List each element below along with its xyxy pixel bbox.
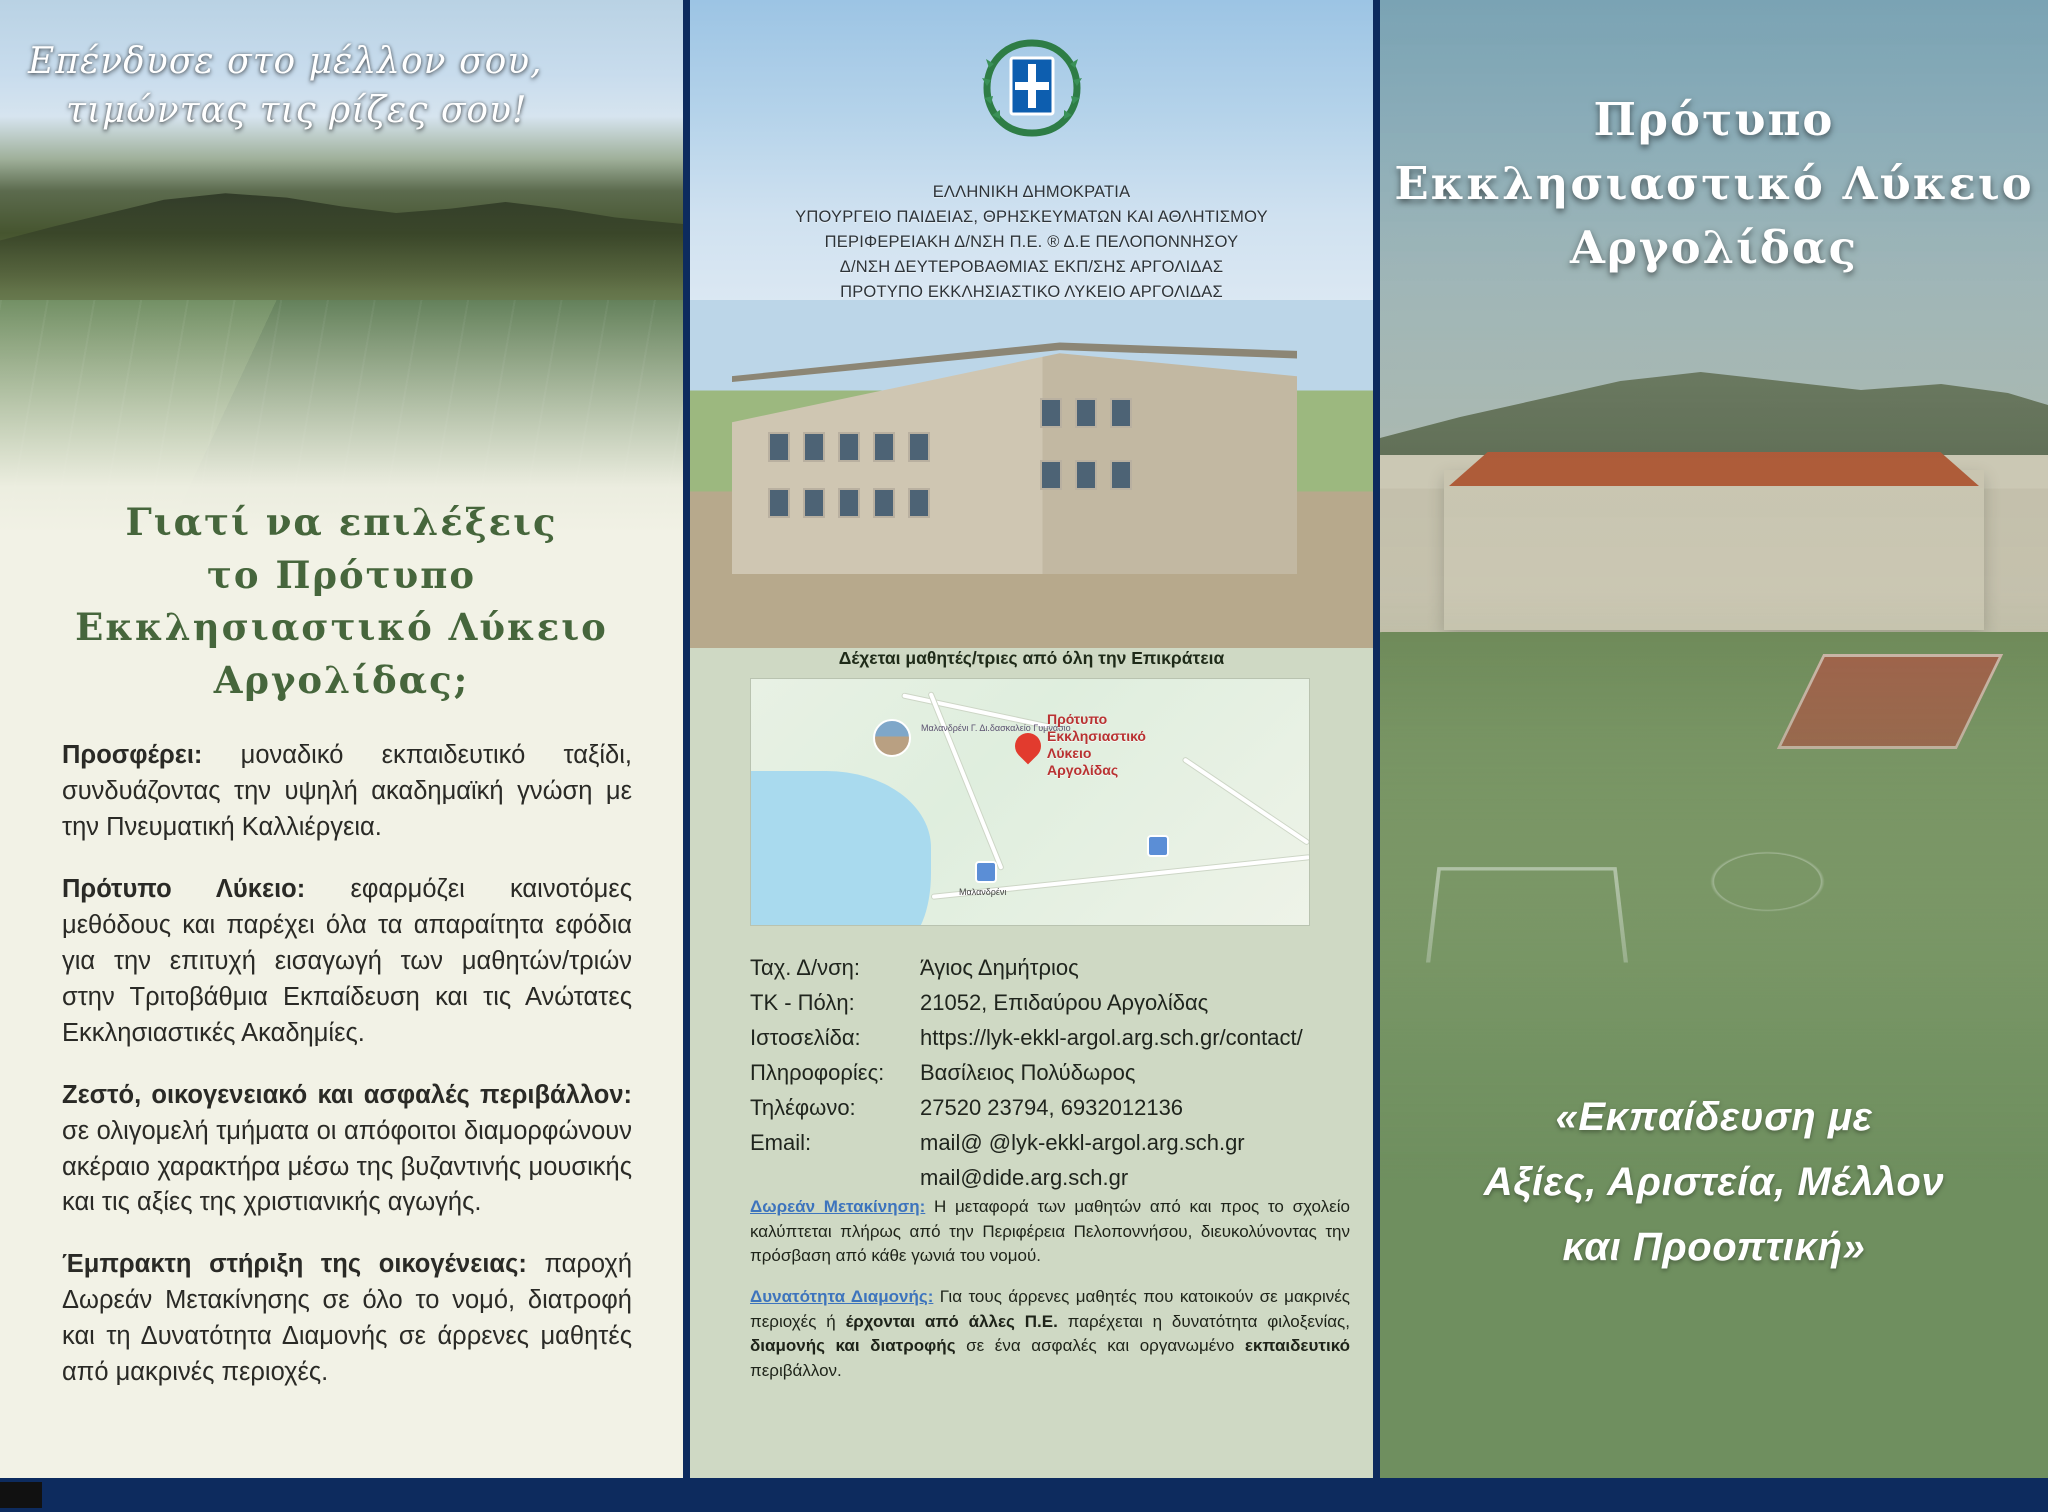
map-school-label: Πρότυπο Εκκλησιαστικό Λύκειο Αργολίδας	[1047, 711, 1146, 779]
left-panel-heading: Γιατί να επιλέξεις το Πρότυπο Εκκλησιαστ…	[0, 496, 683, 706]
contact-value-phone: 27520 23794, 6932012136	[920, 1090, 1350, 1125]
note-text-d: περιβάλλον.	[750, 1361, 842, 1380]
trifold-brochure: Επένδυσε στο μέλλον σου, τιμώντας τις ρί…	[0, 0, 2048, 1512]
map-label-line-1: Πρότυπο	[1047, 711, 1146, 728]
map-label-line-2: Εκκλησιαστικό	[1047, 728, 1146, 745]
ministry-line-2: ΥΠΟΥΡΓΕΙΟ ΠΑΙΔΕΙΑΣ, ΘΡΗΣΚΕΥΜΑΤΩΝ ΚΑΙ ΑΘΛ…	[690, 205, 1373, 230]
map-poi-marker[interactable]	[1147, 835, 1169, 857]
location-map[interactable]: Μαλανδρένι Γ. Δι.δασκαλείο Γυμνάσιο Πρότ…	[750, 678, 1310, 926]
ministry-line-5: ΠΡΟΤΥΠΟ ΕΚΚΛΗΣΙΑΣΤΙΚΟ ΛΥΚΕΙΟ ΑΡΓΟΛΙΔΑΣ	[690, 280, 1373, 305]
contact-key	[750, 1161, 920, 1196]
contact-key: Ιστοσελίδα:	[750, 1020, 920, 1055]
map-label-line-3: Λύκειο	[1047, 745, 1146, 762]
contact-table: Ταχ. Δ/νση: Άγιος Δημήτριος ΤΚ - Πόλη: 2…	[750, 950, 1350, 1196]
left-paragraph-lead: Ζεστό, οικογενειακό και ασφαλές περιβάλλ…	[62, 1081, 632, 1109]
school-building-photo	[690, 300, 1373, 648]
note-accommodation: Δυνατότητα Διαμονής: Για τους άρρενες μα…	[750, 1285, 1350, 1384]
tagline-line-2: τιμώντας τις ρίζες σου!	[28, 87, 588, 136]
right-title-line-3: Αργολίδας	[1380, 216, 2048, 280]
map-avatar	[873, 719, 911, 757]
contact-row: Ιστοσελίδα: https://lyk-ekkl-argol.arg.s…	[750, 1020, 1350, 1055]
building-window	[838, 488, 860, 518]
building-window-row	[1040, 460, 1132, 490]
building-window	[803, 432, 825, 462]
ministry-line-4: Δ/ΝΣΗ ΔΕΥΤΕΡΟΒΑΘΜΙΑΣ ΕΚΠ/ΣΗΣ ΑΡΓΟΛΙΔΑΣ	[690, 255, 1373, 280]
left-heading-line-2: το Πρότυπο	[0, 549, 683, 602]
panel-left: Επένδυσε στο μέλλον σου, τιμώντας τις ρί…	[0, 0, 683, 1478]
ministry-line-3: ΠΕΡΙΦΕΡΕΙΑΚΗ Δ/ΝΣΗ Π.Ε. ® Δ.Ε ΠΕΛΟΠΟΝΝΗΣ…	[690, 230, 1373, 255]
building-window	[908, 432, 930, 462]
contact-row: Ταχ. Δ/νση: Άγιος Δημήτριος	[750, 950, 1350, 985]
right-panel-title: Πρότυπο Εκκλησιαστικό Λύκειο Αργολίδας	[1380, 88, 2048, 280]
building-window-row	[768, 488, 930, 518]
map-place-label: Μαλανδρένι	[959, 887, 1006, 899]
contact-details: Ταχ. Δ/νση: Άγιος Δημήτριος ΤΚ - Πόλη: 2…	[750, 950, 1350, 1196]
map-sea	[750, 771, 931, 926]
left-panel-body: Προσφέρει: μοναδικό εκπαιδευτικό ταξίδι,…	[62, 738, 632, 1417]
bottom-strip-accent	[0, 1482, 42, 1508]
building-window	[768, 488, 790, 518]
bottom-frame-strip	[0, 1478, 2048, 1512]
building-caption: Δέχεται μαθητές/τριες από όλη την Επικρά…	[690, 648, 1373, 669]
note-text-c: σε ένα ασφαλές και οργανωμένο	[956, 1336, 1245, 1355]
quote-line-1: «Εκπαίδευση με	[1380, 1085, 2048, 1150]
contact-value-email-secondary[interactable]: mail@dide.arg.sch.gr	[920, 1161, 1350, 1196]
left-paragraph-lead: Έμπρακτη στήριξη της οικογένειας:	[62, 1250, 527, 1278]
map-road	[929, 692, 1004, 870]
tagline-line-1: Επένδυσε στο μέλλον σου,	[28, 41, 543, 82]
contact-value: Άγιος Δημήτριος	[920, 950, 1350, 985]
left-heading-line-3: Εκκλησιαστικό Λύκειο	[0, 601, 683, 654]
building-window	[1040, 398, 1062, 428]
left-paragraph-text: σε ολιγομελή τμήματα οι απόφοιτοι διαμορ…	[62, 1117, 632, 1217]
tagline: Επένδυσε στο μέλλον σου, τιμώντας τις ρί…	[28, 38, 588, 135]
right-title-line-1: Πρότυπο	[1380, 88, 2048, 152]
map-label-line-4: Αργολίδας	[1047, 762, 1146, 779]
left-paragraph-lead: Πρότυπο Λύκειο:	[62, 875, 305, 903]
building-window-row	[1040, 398, 1132, 428]
contact-value: 21052, Επιδαύρου Αργολίδας	[920, 985, 1350, 1020]
note-lead: Δωρεάν Μετακίνηση:	[750, 1197, 925, 1216]
building-window-row	[768, 432, 930, 462]
building-window	[1040, 460, 1062, 490]
left-paragraph: Έμπρακτη στήριξη της οικογένειας: παροχή…	[62, 1247, 632, 1391]
map-avatar-label-line-1: Μαλανδρένι Γ.	[921, 723, 977, 733]
map-road	[1183, 757, 1310, 844]
contact-key: Ταχ. Δ/νση:	[750, 950, 920, 985]
building-window	[1075, 398, 1097, 428]
map-poi-marker[interactable]	[975, 861, 997, 883]
building-window	[908, 488, 930, 518]
contact-row: Email: mail@ @lyk-ekkl-argol.arg.sch.gr	[750, 1126, 1350, 1161]
building-window	[768, 432, 790, 462]
building-window	[803, 488, 825, 518]
building-window	[1075, 460, 1097, 490]
contact-row: ΤΚ - Πόλη: 21052, Επιδαύρου Αργολίδας	[750, 985, 1350, 1020]
building-window	[873, 432, 895, 462]
motto-quote: «Εκπαίδευση με Αξίες, Αριστεία, Μέλλον κ…	[1380, 1085, 2048, 1279]
note-bold-c: εκπαιδευτικό	[1245, 1336, 1350, 1355]
note-bold-a: έρχονται από άλλες Π.Ε.	[846, 1312, 1058, 1331]
left-paragraph: Προσφέρει: μοναδικό εκπαιδευτικό ταξίδι,…	[62, 738, 632, 846]
greek-republic-emblem-icon	[978, 34, 1086, 142]
note-free-transport: Δωρεάν Μετακίνηση: Η μεταφορά των μαθητώ…	[750, 1195, 1350, 1269]
contact-key: Πληροφορίες:	[750, 1055, 920, 1090]
map-pin-icon[interactable]	[1015, 733, 1041, 767]
contact-value-email[interactable]: mail@ @lyk-ekkl-argol.arg.sch.gr	[920, 1126, 1350, 1161]
ministry-line-1: ΕΛΛΗΝΙΚΗ ΔΗΜΟΚΡΑΤΙΑ	[690, 180, 1373, 205]
contact-value-website[interactable]: https://lyk-ekkl-argol.arg.sch.gr/contac…	[920, 1020, 1350, 1055]
contact-key: Τηλέφωνο:	[750, 1090, 920, 1125]
panel-right: Πρότυπο Εκκλησιαστικό Λύκειο Αργολίδας «…	[1380, 0, 2048, 1478]
note-bold-b: διαμονής και διατροφής	[750, 1336, 956, 1355]
contact-key: Email:	[750, 1126, 920, 1161]
contact-row: Πληροφορίες: Βασίλειος Πολύδωρος	[750, 1055, 1350, 1090]
quote-line-2: Αξίες, Αριστεία, Μέλλον	[1380, 1150, 2048, 1215]
left-heading-line-1: Γιατί να επιλέξεις	[0, 496, 683, 549]
building-window	[1110, 460, 1132, 490]
building-window	[838, 432, 860, 462]
quote-line-3: και Προοπτική»	[1380, 1215, 2048, 1280]
contact-key: ΤΚ - Πόλη:	[750, 985, 920, 1020]
contact-value: Βασίλειος Πολύδωρος	[920, 1055, 1350, 1090]
building-window	[873, 488, 895, 518]
center-notes: Δωρεάν Μετακίνηση: Η μεταφορά των μαθητώ…	[750, 1195, 1350, 1399]
note-text-b: παρέχεται η δυνατότητα φιλοξενίας,	[1058, 1312, 1350, 1331]
contact-row: Τηλέφωνο: 27520 23794, 6932012136	[750, 1090, 1350, 1125]
left-paragraph: Ζεστό, οικογενειακό και ασφαλές περιβάλλ…	[62, 1078, 632, 1222]
right-title-line-2: Εκκλησιαστικό Λύκειο	[1380, 152, 2048, 216]
left-paragraph-lead: Προσφέρει:	[62, 741, 202, 769]
ministry-heading: ΕΛΛΗΝΙΚΗ ΔΗΜΟΚΡΑΤΙΑ ΥΠΟΥΡΓΕΙΟ ΠΑΙΔΕΙΑΣ, …	[690, 180, 1373, 305]
note-lead: Δυνατότητα Διαμονής:	[750, 1287, 933, 1306]
left-heading-line-4: Αργολίδας;	[0, 654, 683, 707]
building-window	[1110, 398, 1132, 428]
left-paragraph: Πρότυπο Λύκειο: εφαρμόζει καινοτόμες μεθ…	[62, 872, 632, 1052]
panel-center: ΕΛΛΗΝΙΚΗ ΔΗΜΟΚΡΑΤΙΑ ΥΠΟΥΡΓΕΙΟ ΠΑΙΔΕΙΑΣ, …	[690, 0, 1373, 1478]
contact-row: mail@dide.arg.sch.gr	[750, 1161, 1350, 1196]
